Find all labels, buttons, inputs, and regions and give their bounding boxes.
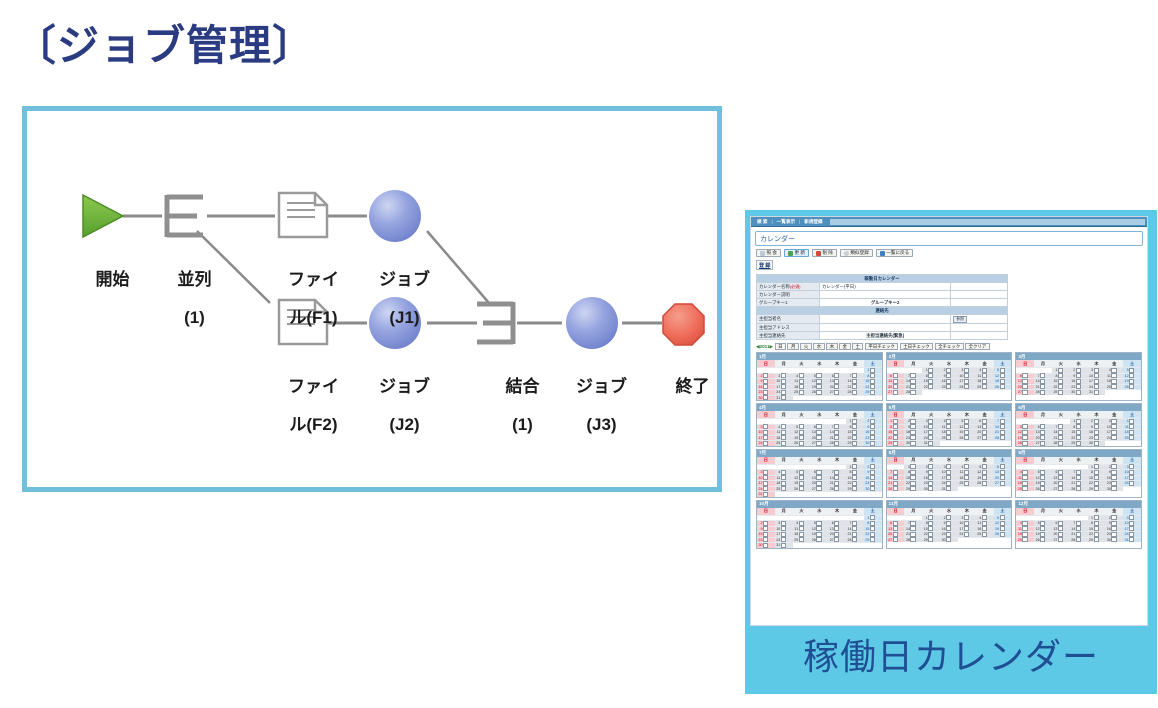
day-cell[interactable]: 27 (887, 389, 905, 395)
day-checkbox[interactable] (928, 441, 933, 446)
dow-button-sat[interactable]: 土 (852, 343, 863, 350)
day-checkbox[interactable] (1076, 390, 1081, 395)
day-number: 28 (887, 487, 892, 491)
day-number: 28 (905, 538, 910, 542)
join-icon (477, 302, 513, 344)
dow-header-cell: 日 (887, 508, 905, 515)
calendar-desc-extra-cell (951, 291, 1008, 299)
day-checkbox[interactable] (1022, 390, 1027, 395)
month-block: 5月日月火水木金土1234567891011121314151617181920… (886, 403, 1013, 447)
dow-button-tue[interactable]: 火 (800, 343, 811, 350)
day-checkbox[interactable] (763, 395, 768, 400)
dow-header-cell: 金 (846, 360, 864, 367)
day-cell[interactable]: 25 (1016, 537, 1034, 543)
delete-button[interactable]: 削 除 (812, 249, 837, 257)
day-checkbox[interactable] (910, 486, 915, 491)
day-cell[interactable]: 27 (1016, 389, 1034, 395)
current-year-label: 2011 (760, 344, 770, 349)
document-icon (279, 193, 327, 237)
day-checkbox[interactable] (1022, 441, 1027, 446)
node-label-file1-line2: ル(F1) (289, 308, 337, 327)
month-header: 7月 (757, 450, 882, 457)
year-toolbar: ◀2011▶ 日 月 火 水 木 金 土 平日チェック 土日チェック 全チェック… (756, 343, 1147, 350)
dow-header-cell: 月 (775, 411, 793, 418)
owner-emergency-value[interactable] (951, 332, 1008, 340)
day-checkbox[interactable] (852, 441, 857, 446)
day-cell[interactable]: 28 (904, 537, 922, 543)
day-cell[interactable]: 30 (864, 440, 882, 446)
form-section-title-calendar: 稼動日カレンダー (757, 275, 1008, 283)
update-button[interactable]: 更 新 (784, 249, 809, 257)
empty-day-cell (846, 491, 864, 497)
day-cell[interactable]: 31 (940, 486, 958, 492)
day-checkbox[interactable] (834, 441, 839, 446)
dow-header-cell: 木 (1088, 360, 1106, 367)
dow-header-cell: 木 (828, 411, 846, 418)
dow-header-row: 日月火水木金土 (757, 360, 882, 367)
day-cell[interactable]: 27 (1052, 486, 1070, 492)
day-checkbox[interactable] (781, 395, 786, 400)
day-cell[interactable]: 26 (1034, 486, 1052, 492)
day-number: 28 (829, 441, 834, 445)
dow-header-cell: 土 (1123, 360, 1141, 367)
day-checkbox[interactable] (1111, 537, 1116, 542)
calendar-desc-label: カレンダー説明 (757, 291, 820, 299)
dow-header-cell: 土 (994, 360, 1012, 367)
day-cell[interactable]: 29 (1088, 537, 1106, 543)
tab-search[interactable]: 検 索 (753, 219, 771, 225)
month-block: 11月日月火水木金土123456789101112131415161718192… (886, 500, 1013, 549)
calendar-name-input[interactable]: カレンダー (755, 231, 1143, 246)
day-number: 29 (1088, 538, 1093, 542)
month-header: 8月 (887, 450, 1012, 457)
node-label-join-line1: 結合 (505, 377, 539, 396)
day-checkbox[interactable] (910, 441, 915, 446)
dow-header-cell: 木 (828, 508, 846, 515)
day-cell[interactable]: 30 (757, 395, 775, 401)
day-number: 29 (905, 487, 910, 491)
day-number: 26 (1035, 538, 1040, 542)
month-header: 12月 (1016, 501, 1141, 508)
day-number: 31 (1124, 538, 1129, 542)
day-cell[interactable]: 25 (775, 440, 793, 446)
month-block: 12月日月火水木金土123456789101112131415161718192… (1015, 500, 1142, 549)
dow-header-cell: 水 (940, 360, 958, 367)
empty-day-cell (958, 389, 976, 395)
dow-header-cell: 月 (775, 508, 793, 515)
dow-header-cell: 日 (1016, 411, 1034, 418)
calendar-desc-value[interactable] (820, 291, 951, 299)
day-cell[interactable]: 25 (1016, 486, 1034, 492)
day-cell[interactable]: 30 (1105, 537, 1123, 543)
green-triangle-icon (83, 195, 123, 237)
dow-header-cell: 土 (994, 457, 1012, 464)
day-cell[interactable]: 29 (1088, 486, 1106, 492)
groupkey1-label: グループキー1 (757, 299, 820, 307)
dow-header-cell: 火 (922, 508, 940, 515)
owner-name-value[interactable] (820, 315, 951, 324)
dow-header-cell: 火 (793, 508, 811, 515)
day-number: 27 (887, 390, 892, 394)
dow-header-cell: 水 (810, 508, 828, 515)
dow-header-row: 日月火水木金土 (1016, 457, 1141, 464)
dow-header-cell: 日 (1016, 457, 1034, 464)
day-checkbox[interactable] (1094, 486, 1099, 491)
dow-header-cell: 木 (828, 360, 846, 367)
day-cell[interactable]: 31 (922, 440, 940, 446)
day-checkbox[interactable] (1058, 486, 1063, 491)
dow-header-cell: 木 (1088, 411, 1106, 418)
day-number: 27 (1035, 441, 1040, 445)
day-cell[interactable]: 31 (775, 542, 793, 548)
node-label-job3: ジョブ (J3) (552, 358, 632, 453)
groupkey2-value[interactable] (951, 299, 1008, 307)
day-number: 28 (1052, 441, 1057, 445)
empty-day-cell (775, 491, 793, 497)
node-label-fork-line2: (1) (184, 308, 205, 327)
groupkey2-label-cell: グループキー2 (820, 299, 951, 307)
table-row: カレンダー説明 (757, 291, 1008, 299)
day-cell[interactable]: 31 (757, 491, 775, 497)
day-checkbox[interactable] (1022, 537, 1027, 542)
day-checkbox[interactable] (799, 441, 804, 446)
day-cell[interactable]: 26 (1016, 440, 1034, 446)
day-number: 30 (905, 441, 910, 445)
empty-day-cell (994, 486, 1012, 492)
action-toolbar: 照 会 更 新 削 除 類似登録 一覧に戻る (756, 249, 1147, 257)
day-checkbox[interactable] (1058, 441, 1063, 446)
owner-emergency-label-cell: 主担当連絡先(緊急) (820, 332, 951, 340)
day-checkbox[interactable] (946, 486, 951, 491)
table-row: 主担当者名 参照 (757, 315, 1008, 324)
dow-button-wed[interactable]: 水 (813, 343, 824, 350)
day-cell[interactable]: 27 (1034, 440, 1052, 446)
node-label-end: 終了 (653, 358, 713, 415)
month-block: 6月日月火水木金土1234567891011121314151617181920… (1015, 403, 1142, 447)
back-to-list-button[interactable]: 一覧に戻る (876, 249, 913, 257)
day-cell[interactable]: 29 (1070, 440, 1088, 446)
month-header: 5月 (887, 404, 1012, 411)
day-number: 28 (1070, 487, 1075, 491)
owner-address-extra-cell (951, 324, 1008, 332)
dow-header-cell: 木 (958, 411, 976, 418)
node-label-join: 結合 (1) (473, 358, 553, 453)
app-tabstrip: 検 索 | 一覧表示 | 新規登録 (751, 217, 1147, 227)
day-number: 27 (1017, 390, 1022, 394)
tab-new[interactable]: 新規登録 (800, 219, 826, 225)
dow-header-cell: 金 (846, 508, 864, 515)
delete-icon (816, 251, 821, 256)
day-checkbox[interactable] (1094, 537, 1099, 542)
tab-list[interactable]: 一覧表示 (773, 219, 799, 225)
day-checkbox[interactable] (763, 441, 768, 446)
empty-day-cell (828, 395, 846, 401)
day-number: 27 (811, 441, 816, 445)
day-cell[interactable]: 26 (793, 440, 811, 446)
day-checkbox[interactable] (946, 537, 951, 542)
day-cell[interactable]: 28 (1034, 389, 1052, 395)
week-row: 3031 (757, 542, 882, 548)
dow-header-cell: 月 (1034, 360, 1052, 367)
day-checkbox[interactable] (781, 441, 786, 446)
dow-header-cell: 土 (864, 457, 882, 464)
day-checkbox[interactable] (870, 441, 875, 446)
dow-button-sun[interactable]: 日 (775, 343, 786, 350)
day-number: 25 (1017, 538, 1022, 542)
day-cell[interactable]: 30 (757, 542, 775, 548)
day-cell[interactable]: 30 (1088, 440, 1106, 446)
dow-header-cell: 月 (904, 457, 922, 464)
dow-header-row: 日月火水木金土 (887, 360, 1012, 367)
day-cell[interactable]: 29 (846, 440, 864, 446)
year-nav[interactable]: ◀2011▶ (756, 344, 773, 350)
day-cell[interactable]: 28 (1070, 537, 1088, 543)
calendar-name-value[interactable]: カレンダー(平日) (820, 283, 951, 291)
day-cell[interactable]: 30 (1105, 486, 1123, 492)
dow-header-cell: 水 (1070, 411, 1088, 418)
node-label-file2-line1: ファイ (288, 377, 339, 396)
dow-header-row: 日月火水木金土 (757, 411, 882, 418)
day-checkbox[interactable] (816, 441, 821, 446)
day-cell[interactable]: 30 (940, 537, 958, 543)
day-number: 31 (775, 396, 780, 400)
dow-header-cell: 火 (922, 360, 940, 367)
day-checkbox[interactable] (1076, 537, 1081, 542)
empty-day-cell (1123, 389, 1141, 395)
dow-header-cell: 土 (994, 508, 1012, 515)
day-number: 26 (1017, 441, 1022, 445)
owner-name-label: 主担当者名 (757, 315, 820, 324)
month-header: 9月 (1016, 450, 1141, 457)
day-checkbox[interactable] (1040, 390, 1045, 395)
day-checkbox[interactable] (1094, 441, 1099, 446)
month-block: 2月日月火水木金土1234567891011121314151617181920… (886, 352, 1013, 401)
day-cell[interactable]: 26 (1034, 537, 1052, 543)
day-cell[interactable]: 27 (887, 537, 905, 543)
node-label-file2: ファイ ル(F2) (259, 358, 349, 453)
day-number: 29 (1070, 441, 1075, 445)
day-checkbox[interactable] (781, 543, 786, 548)
empty-day-cell (864, 542, 882, 548)
day-number: 31 (923, 441, 928, 445)
day-number: 30 (941, 538, 946, 542)
blue-sphere-icon (566, 297, 618, 349)
dow-button-fri[interactable]: 金 (839, 343, 850, 350)
inquiry-button[interactable]: 照 会 (756, 249, 781, 257)
node-label-fork: 並列 (1) (145, 251, 225, 346)
day-number: 30 (758, 543, 763, 547)
day-checkbox[interactable] (1076, 486, 1081, 491)
day-cell[interactable]: 31 (775, 395, 793, 401)
dow-header-cell: 金 (1105, 360, 1123, 367)
dow-header-cell: 土 (1123, 457, 1141, 464)
day-cell[interactable]: 30 (904, 440, 922, 446)
dow-header-cell: 日 (757, 360, 775, 367)
tab-filler (830, 219, 1145, 225)
node-label-job1-line2: (J1) (389, 308, 419, 327)
day-cell[interactable]: 28 (1070, 486, 1088, 492)
day-checkbox[interactable] (893, 390, 898, 395)
copy-icon (844, 251, 849, 256)
day-cell[interactable]: 29 (1052, 389, 1070, 395)
day-cell[interactable]: 27 (810, 440, 828, 446)
day-cell[interactable]: 30 (922, 486, 940, 492)
day-checkbox[interactable] (1040, 537, 1045, 542)
day-number: 30 (1106, 538, 1111, 542)
day-checkbox[interactable] (1094, 390, 1099, 395)
day-number: 31 (775, 543, 780, 547)
day-checkbox[interactable] (893, 441, 898, 446)
week-row: 27282930 (887, 537, 1012, 543)
blue-sphere-icon (369, 190, 421, 242)
day-checkbox[interactable] (763, 492, 768, 497)
dow-header-cell: 火 (793, 360, 811, 367)
check-all-button[interactable]: 全チェック (935, 343, 964, 350)
dow-header-cell: 日 (757, 411, 775, 418)
dow-header-row: 日月火水木金土 (1016, 508, 1141, 515)
node-label-job2: ジョブ (J2) (355, 358, 435, 453)
dow-header-cell: 金 (1105, 411, 1123, 418)
dow-header-cell: 金 (976, 457, 994, 464)
node-label-job3-line1: ジョブ (576, 377, 627, 396)
day-checkbox[interactable] (1058, 537, 1063, 542)
dow-header-cell: 水 (940, 411, 958, 418)
empty-day-cell (958, 440, 976, 446)
copy-register-button-label: 類似登録 (850, 250, 868, 256)
clear-all-button[interactable]: 全クリア (965, 343, 990, 350)
day-cell[interactable]: 29 (904, 486, 922, 492)
empty-day-cell (1123, 440, 1141, 446)
day-checkbox[interactable] (893, 486, 898, 491)
empty-day-cell (976, 389, 994, 395)
day-checkbox[interactable] (1040, 486, 1045, 491)
empty-day-cell (958, 537, 976, 543)
dow-header-cell: 日 (887, 360, 905, 367)
table-row: カレンダー名称(必須) カレンダー(平日) (757, 283, 1008, 291)
month-header: 2月 (887, 353, 1012, 360)
day-checkbox[interactable] (1111, 486, 1116, 491)
day-checkbox[interactable] (763, 543, 768, 548)
month-header: 1月 (757, 353, 882, 360)
day-checkbox[interactable] (1076, 441, 1081, 446)
day-cell[interactable]: 29 (922, 537, 940, 543)
owner-name-ref-cell: 参照 (951, 315, 1008, 324)
week-row: 2728293031 (1016, 389, 1141, 395)
node-label-start: 開始 (73, 251, 133, 308)
dow-header-cell: 木 (1088, 508, 1106, 515)
inquiry-button-label: 照 会 (767, 250, 777, 256)
day-cell[interactable]: 30 (1070, 389, 1088, 395)
day-checkbox[interactable] (928, 537, 933, 542)
dow-header-row: 日月火水木金土 (887, 508, 1012, 515)
day-cell[interactable]: 28 (828, 440, 846, 446)
day-number: 30 (923, 487, 928, 491)
weekend-check-button[interactable]: 土日チェック (900, 343, 933, 350)
week-row: 252627282930 (1016, 486, 1141, 492)
empty-day-cell (810, 542, 828, 548)
next-year-icon[interactable]: ▶ (770, 344, 774, 349)
day-cell[interactable]: 28 (904, 389, 922, 395)
empty-day-cell (828, 542, 846, 548)
dow-header-cell: 日 (1016, 360, 1034, 367)
day-checkbox[interactable] (910, 537, 915, 542)
day-number: 31 (758, 492, 763, 496)
day-cell[interactable]: 29 (887, 440, 905, 446)
weekday-check-button[interactable]: 平日チェック (865, 343, 898, 350)
day-checkbox[interactable] (1058, 390, 1063, 395)
day-cell[interactable]: 31 (1088, 389, 1106, 395)
week-row: 3031 (757, 395, 882, 401)
day-cell[interactable]: 24 (757, 440, 775, 446)
node-label-file2-line2: ル(F2) (289, 415, 337, 434)
calendar-month-grid: 1月日月火水木金土1234567891011121314151617181920… (756, 352, 1142, 549)
node-label-job1-line1: ジョブ (379, 270, 430, 289)
owner-address-value[interactable] (820, 324, 951, 332)
dow-header-cell: 土 (864, 411, 882, 418)
day-checkbox[interactable] (893, 537, 898, 542)
week-row: 31 (757, 491, 882, 497)
dow-header-cell: 木 (958, 360, 976, 367)
dow-header-cell: 金 (976, 360, 994, 367)
dow-header-cell: 月 (1034, 411, 1052, 418)
dow-header-cell: 土 (864, 508, 882, 515)
day-checkbox[interactable] (1129, 537, 1134, 542)
table-row: グループキー1 グループキー2 (757, 299, 1008, 307)
form-section-header-row: 連絡先 (757, 307, 1008, 315)
calendar-app-window: 検 索 | 一覧表示 | 新規登録 カレンダー 照 会 更 新 削 除 (750, 216, 1148, 626)
node-label-fork-line1: 並列 (177, 270, 211, 289)
day-cell[interactable]: 31 (1123, 537, 1141, 543)
day-checkbox[interactable] (1022, 486, 1027, 491)
update-button-label: 更 新 (794, 250, 804, 256)
dow-header-cell: 水 (810, 411, 828, 418)
day-cell[interactable]: 28 (1052, 440, 1070, 446)
day-number: 30 (758, 396, 763, 400)
dow-header-cell: 月 (904, 508, 922, 515)
owner-reference-button[interactable]: 参照 (953, 316, 967, 323)
table-row: 主担当連絡先 主担当連絡先(緊急) (757, 332, 1008, 340)
day-checkbox[interactable] (928, 486, 933, 491)
dow-header-cell: 金 (846, 411, 864, 418)
node-label-file1-line1: ファイ (288, 270, 339, 289)
day-cell[interactable]: 27 (1052, 537, 1070, 543)
empty-day-cell (940, 440, 958, 446)
form-section-title-contact: 連絡先 (757, 307, 1008, 315)
empty-day-cell (810, 395, 828, 401)
week-row: 2627282930 (1016, 440, 1141, 446)
day-cell[interactable]: 28 (887, 486, 905, 492)
copy-register-button[interactable]: 類似登録 (840, 249, 873, 257)
empty-day-cell (793, 542, 811, 548)
dow-header-cell: 木 (828, 457, 846, 464)
dow-button-thu[interactable]: 木 (826, 343, 837, 350)
dow-header-cell: 月 (904, 360, 922, 367)
dow-header-cell: 金 (846, 457, 864, 464)
register-button[interactable]: 登 録 (756, 260, 773, 270)
dow-header-cell: 水 (1070, 457, 1088, 464)
empty-day-cell (922, 389, 940, 395)
empty-day-cell (958, 486, 976, 492)
dow-header-cell: 日 (1016, 508, 1034, 515)
empty-day-cell (846, 395, 864, 401)
dow-button-mon[interactable]: 月 (787, 343, 798, 350)
day-checkbox[interactable] (1040, 441, 1045, 446)
dow-header-cell: 水 (940, 457, 958, 464)
dow-header-cell: 日 (757, 508, 775, 515)
empty-day-cell (1105, 389, 1123, 395)
search-icon (760, 251, 765, 256)
day-checkbox[interactable] (910, 390, 915, 395)
